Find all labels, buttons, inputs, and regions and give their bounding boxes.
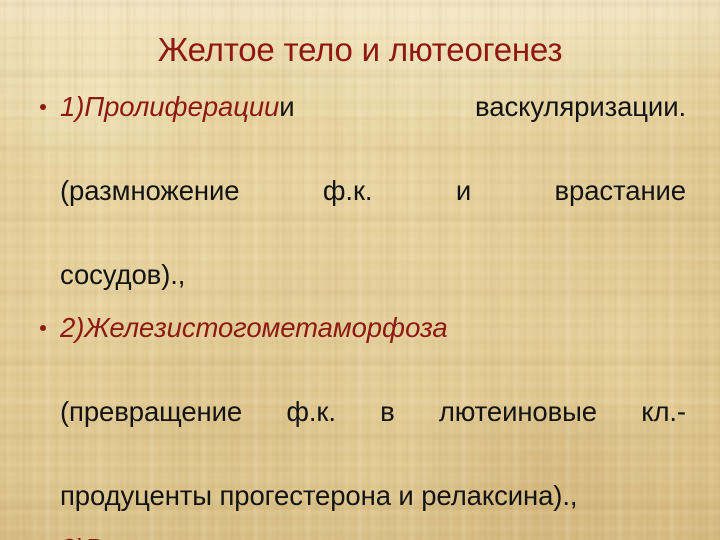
bullet-2-line-2: (превращение ф.к. в лютеиновые кл.-	[60, 391, 686, 475]
bullet-marker-icon	[40, 104, 46, 110]
bullet-item-1: 1)Пролиферациии васкуляризации. (размнож…	[30, 86, 686, 296]
bullet-3-line-1: 3)Расцвета: за счет накопления	[60, 528, 686, 540]
slide-title: Желтое тело и лютеогенез	[26, 30, 694, 70]
bullet-2-line-3: продуценты прогестерона и релаксина).,	[60, 475, 686, 517]
bullet-2-emphasis: 2)Железистого	[60, 312, 262, 343]
slide-body: 1)Пролиферациии васкуляризации. (размнож…	[30, 86, 686, 540]
bullet-2-line-1: 2)Железистогометаморфоза	[60, 307, 686, 391]
bullet-1-emphasis: 1)Пролиферации	[60, 91, 279, 122]
bullet-2-emphasis-tail: метаморфоза	[262, 312, 448, 343]
bullet-1-line-2: (размножение ф.к. и врастание	[60, 170, 686, 254]
bullet-3-line-1-text: : за счет накопления	[213, 533, 686, 540]
bullet-1-line-1: 1)Пролиферациии васкуляризации.	[60, 86, 686, 170]
bullet-marker-icon	[40, 325, 46, 331]
slide-content: Желтое тело и лютеогенез 1)Пролиферациии…	[0, 0, 720, 540]
bullet-3-emphasis: 3)Расцвета	[60, 533, 213, 540]
bullet-item-2: 2)Железистогометаморфоза (превращение ф.…	[30, 307, 686, 517]
bullet-1-line-1-text: и васкуляризации.	[279, 91, 686, 122]
bullet-1-line-3: сосудов).,	[60, 254, 686, 296]
slide: Желтое тело и лютеогенез 1)Пролиферациии…	[0, 0, 720, 540]
bullet-item-3: 3)Расцвета: за счет накопления (цАМФ), у…	[30, 528, 686, 540]
